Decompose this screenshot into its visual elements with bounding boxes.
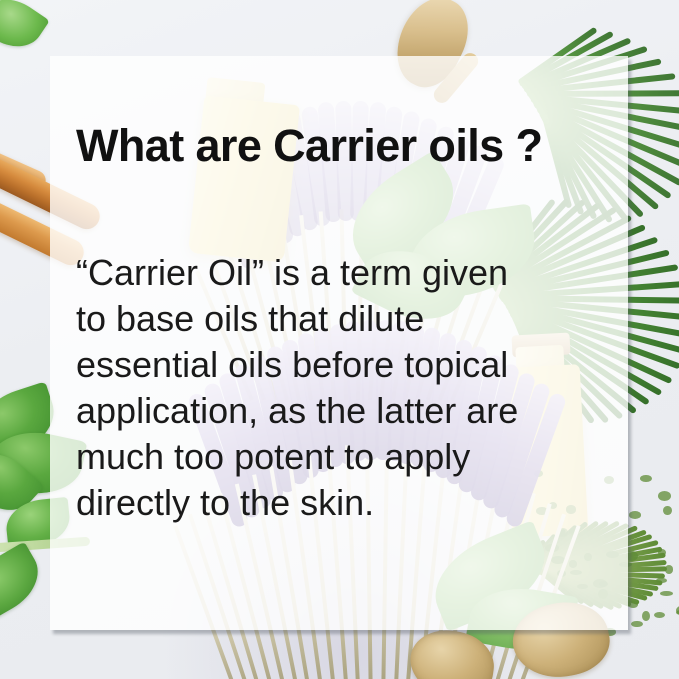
thyme-leaf-icon — [642, 611, 649, 621]
card-body-text: “Carrier Oil” is a term givento base oil… — [76, 250, 606, 526]
card-body-line: directly to the skin. — [76, 480, 606, 526]
mint-leaf-icon — [0, 0, 50, 59]
mint-leaf-icon — [0, 541, 50, 622]
card-body-line: essential oils before topical — [76, 342, 606, 388]
card-body-line: much too potent to apply — [76, 434, 606, 480]
thyme-leaf-icon — [660, 591, 673, 596]
thyme-leaf-icon — [658, 491, 671, 501]
thyme-leaf-icon — [654, 612, 665, 618]
thyme-leaf-icon — [656, 578, 667, 584]
thyme-leaf-icon — [640, 475, 652, 482]
thyme-leaf-icon — [665, 565, 673, 573]
thyme-leaf-icon — [663, 506, 671, 515]
infographic-card: What are Carrier oils ? “Carrier Oil” is… — [0, 0, 679, 679]
card-text-content: What are Carrier oils ? “Carrier Oil” is… — [76, 56, 636, 630]
card-body-line: to base oils that dilute — [76, 296, 606, 342]
page-title: What are Carrier oils ? — [76, 120, 542, 172]
card-body-line: application, as the latter are — [76, 388, 606, 434]
card-body-line: “Carrier Oil” is a term given — [76, 250, 606, 296]
